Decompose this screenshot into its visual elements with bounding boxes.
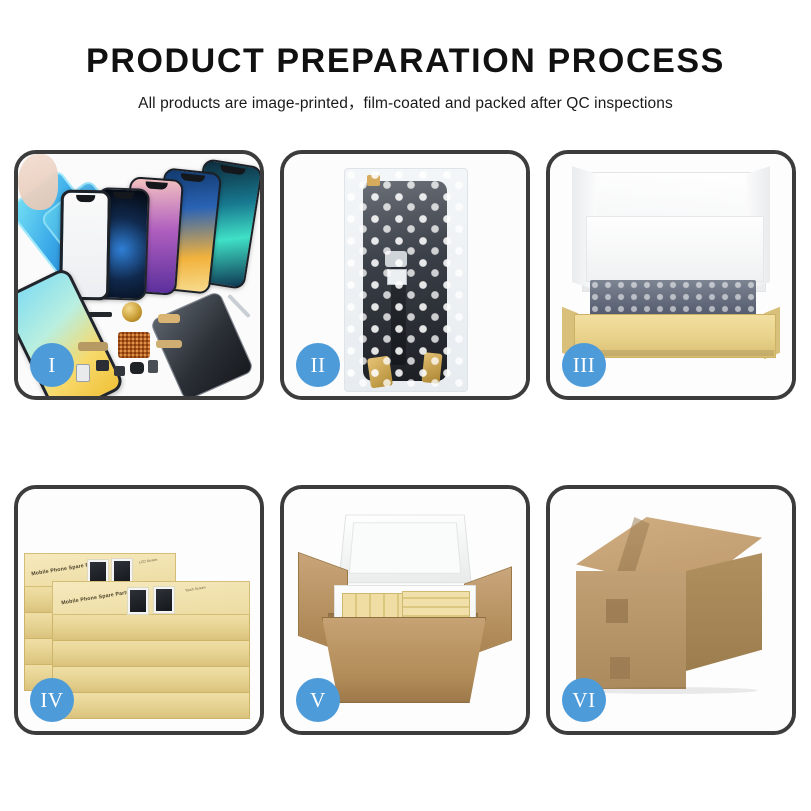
box-stack-front: Mobile Phone Spare Parts Touch Screen xyxy=(52,551,248,719)
carton-front-face xyxy=(576,571,686,689)
carton-body xyxy=(322,617,486,703)
earpiece-bar-icon xyxy=(88,312,112,317)
flex-cable-2-icon xyxy=(156,340,182,348)
bubble-bag xyxy=(344,168,468,392)
speaker-coil-icon xyxy=(122,302,142,322)
foam-liner xyxy=(586,216,764,282)
step-badge-1: I xyxy=(30,343,74,387)
product-preparation-poster: PRODUCT PREPARATION PROCESS All products… xyxy=(0,0,811,811)
flex-cable-3-icon xyxy=(78,342,108,351)
step-badge-2: II xyxy=(296,343,340,387)
foam-lid xyxy=(338,515,471,584)
step-badge-6: VI xyxy=(562,678,606,722)
small-part-3-icon xyxy=(130,362,144,374)
page-subtitle: All products are image-printed，film-coat… xyxy=(0,91,811,113)
step-badge-3: III xyxy=(562,343,606,387)
carton-tape-tab-top xyxy=(606,599,628,623)
step-badge-5: V xyxy=(296,678,340,722)
camera-module-icon xyxy=(76,364,90,382)
process-step-4[interactable]: Mobile Phone Spare Parts LCD Screen Mobi… xyxy=(14,485,264,735)
step-badge-4: IV xyxy=(30,678,74,722)
small-part-4-icon xyxy=(148,360,158,373)
process-step-2[interactable]: II xyxy=(280,150,530,400)
bubble-texture xyxy=(345,169,467,391)
small-part-2-icon xyxy=(114,366,125,376)
hand-icon xyxy=(18,154,58,210)
process-step-1[interactable]: I xyxy=(14,150,264,400)
poster-header: PRODUCT PREPARATION PROCESS All products… xyxy=(0,0,811,113)
bubble-wrapped-contents xyxy=(590,280,756,318)
process-step-5[interactable]: V xyxy=(280,485,530,735)
carton-tape-tab-bottom xyxy=(610,657,630,679)
small-part-1-icon xyxy=(96,360,109,371)
box-label-front: Mobile Phone Spare Parts xyxy=(61,590,130,607)
box-spec-lines-front: Touch Screen xyxy=(185,585,206,593)
process-step-grid: I II xyxy=(14,150,797,735)
flex-cable-1-icon xyxy=(158,314,180,323)
process-step-6[interactable]: VI xyxy=(546,485,796,735)
process-step-3[interactable]: III xyxy=(546,150,796,400)
page-title: PRODUCT PREPARATION PROCESS xyxy=(0,44,811,80)
connector-grid-icon xyxy=(118,332,150,358)
